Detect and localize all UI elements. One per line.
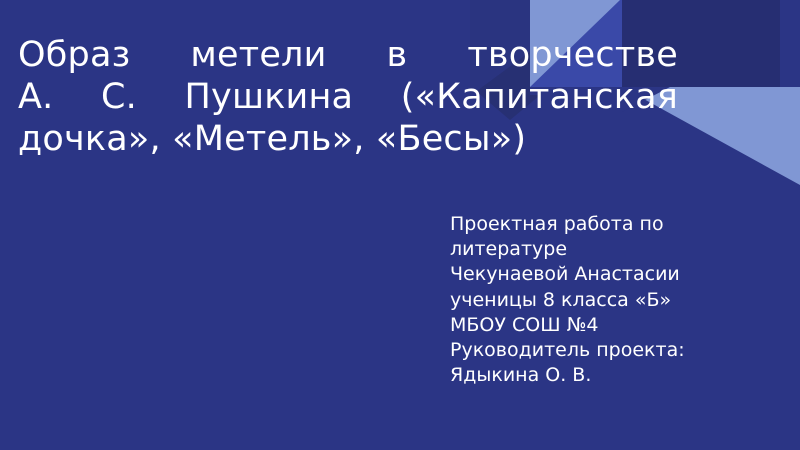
title-word: Образ (18, 34, 130, 76)
subtitle-line: Руководитель проекта: (450, 338, 780, 363)
subtitle-line: литературе (450, 237, 780, 262)
title-word: творчестве (467, 34, 678, 76)
title-line-1: Образ метели в творчестве (18, 34, 678, 76)
slide-title: Образ метели в творчестве А. С. Пушкина … (18, 34, 678, 160)
title-word: А. (18, 76, 53, 118)
slide-subtitle: Проектная работа по литературе Чекунаево… (450, 212, 780, 388)
title-word: в (387, 34, 408, 76)
subtitle-line: ученицы 8 класса «Б» (450, 288, 780, 313)
title-word: С. (101, 76, 137, 118)
presentation-slide: Образ метели в творчестве А. С. Пушкина … (0, 0, 800, 450)
title-word: метели (190, 34, 326, 76)
subtitle-line: МБОУ СОШ №4 (450, 313, 780, 338)
title-line-3: дочка», «Метель», «Бесы») (18, 118, 678, 160)
subtitle-line: Чекунаевой Анастасии (450, 262, 780, 287)
title-word: («Капитанская (401, 76, 678, 118)
subtitle-line: Ядыкина О. В. (450, 363, 780, 388)
title-line-2: А. С. Пушкина («Капитанская (18, 76, 678, 118)
title-word: Пушкина (185, 76, 354, 118)
subtitle-line: Проектная работа по (450, 212, 780, 237)
